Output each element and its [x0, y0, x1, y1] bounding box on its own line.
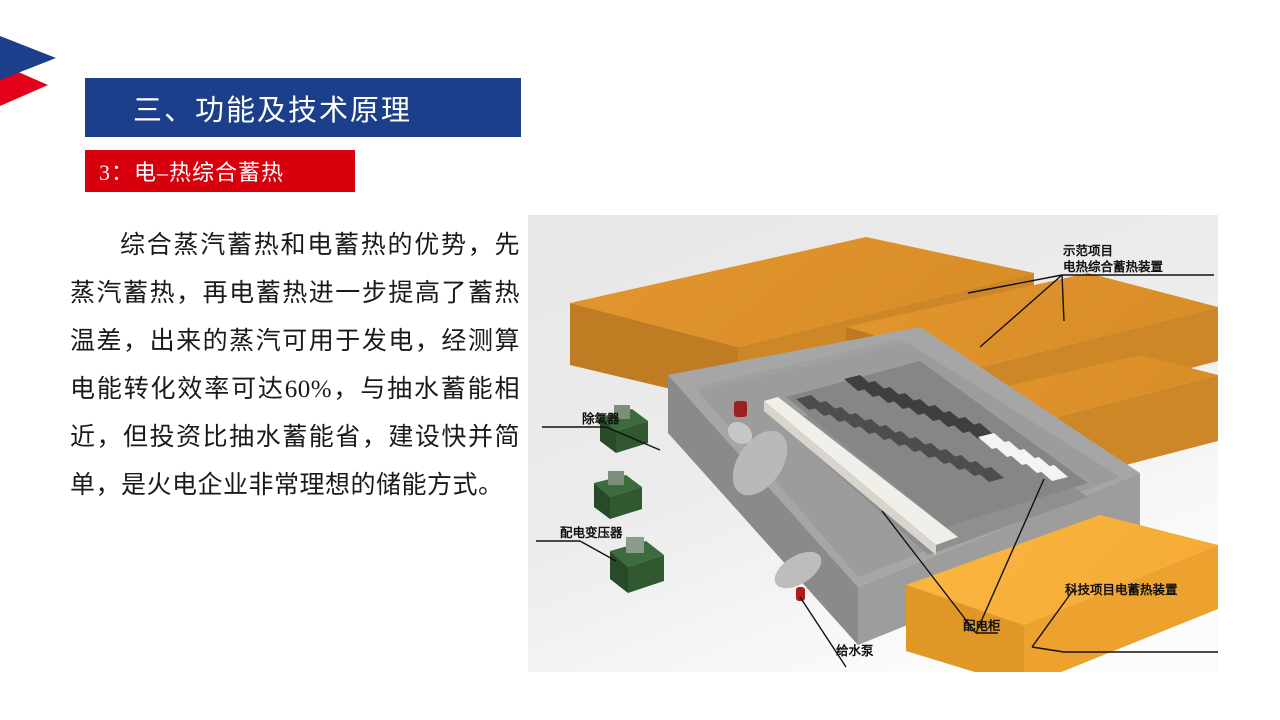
body-paragraph: 综合蒸汽蓄热和电蓄热的优势，先蒸汽蓄热，再电蓄热进一步提高了蓄热温差，出来的蒸汽… [70, 222, 520, 510]
section-title-text: 三、功能及技术原理 [85, 87, 412, 129]
label-feed-water-pump: 给水泵 [836, 643, 874, 659]
section-title-bar: 三、功能及技术原理 [85, 78, 521, 137]
label-science-project: 科技项目电蓄热装置 [1065, 582, 1178, 598]
thermal-storage-diagram-figure [528, 215, 1218, 672]
subsection-title-text: 3：电–热综合蓄热 [85, 155, 284, 187]
slide-canvas: 三、功能及技术原理 3：电–热综合蓄热 综合蒸汽蓄热和电蓄热的优势，先蒸汽蓄热，… [0, 0, 1280, 720]
label-switchgear-cabinet: 配电柜 [963, 618, 1001, 634]
subsection-title-bar: 3：电–热综合蓄热 [85, 150, 355, 192]
label-distribution-transformer: 配电变压器 [560, 525, 623, 541]
corner-decoration [0, 28, 60, 108]
label-demo-project-line1: 示范项目 [1063, 243, 1163, 259]
label-deaerator: 除氧器 [582, 411, 620, 427]
diagram-svg [528, 215, 1218, 672]
label-demo-project-line2: 电热综合蓄热装置 [1063, 259, 1163, 275]
label-demo-project: 示范项目 电热综合蓄热装置 [1063, 243, 1163, 275]
decoration-blue-chevron-icon [0, 36, 56, 80]
